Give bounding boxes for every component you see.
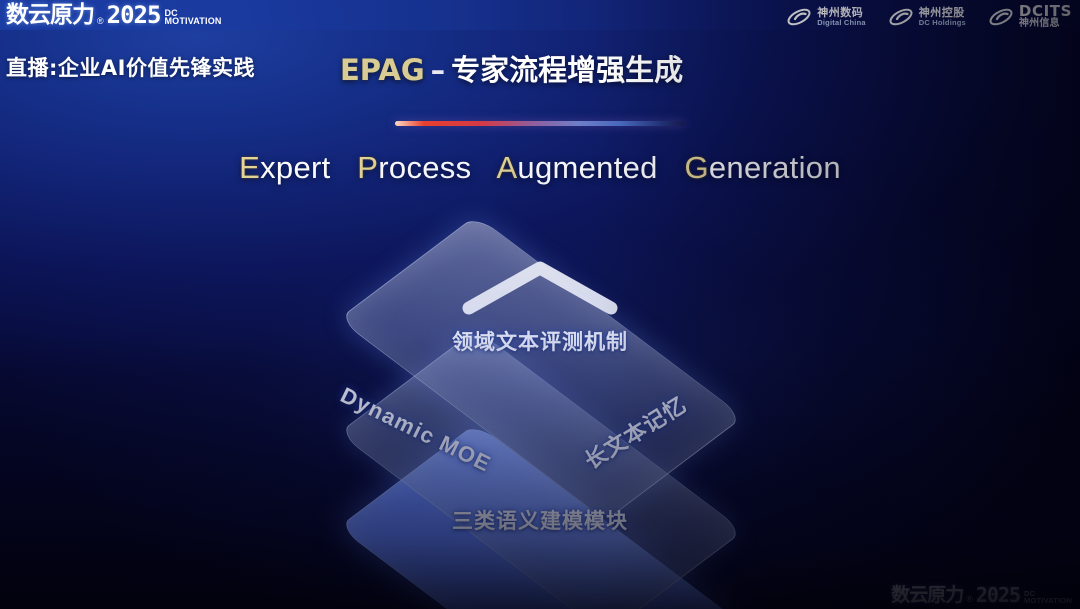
expansion-initial: A [496,150,517,185]
swoosh-icon [888,6,914,28]
partner-name-cn: 神州数码 [817,7,865,18]
expansion-word-process: Process [357,150,471,185]
expansion-initial: P [357,150,378,185]
brand-dc-motivation: DC MOTIVATION [164,9,221,27]
partner-name-en: Digital China [817,19,865,27]
space [339,150,348,185]
partner-name-en: 神州信息 [1019,19,1072,29]
layered-stack-diagram: 领域文本评测机制 Dynamic MOE 长文本记忆 三类语义建模模块 [266,224,814,574]
expansion-initial: E [239,150,260,185]
chevron-up-icon [459,256,621,318]
swoosh-icon [786,6,812,28]
footer-brand-name-cn: 数云原力 [891,586,963,605]
brand-name-cn: 数云原力 [6,4,94,27]
expansion-rest: xpert [260,150,330,185]
brand-registered-mark: ® [97,16,104,27]
brand-year: 2025 [107,3,161,27]
brand-dc-line2: MOTIVATION [164,17,221,26]
partner-logo-dc-holdings: 神州控股 DC Holdings [888,6,966,28]
partner-logo-dcits: DCITS 神州信息 [988,4,1072,29]
live-stream-label: 直播:企业AI价值先锋实践 [6,52,255,82]
partner-logo-digital-china: 神州数码 Digital China [786,6,865,28]
partner-name-cn: DCITS [1019,4,1072,19]
footer-brand-registered-mark: ® [966,594,973,605]
footer-brand-logo: 数云原力 ® 2025 DC MOTIVATION [891,585,1072,605]
title-expansion: Expert Process Augmented Generation [0,150,1080,186]
title-chinese: 专家流程增强生成 [451,53,683,87]
expansion-initial: G [684,150,708,185]
title-dash: – [431,53,446,87]
space [480,150,489,185]
expansion-rest: eneration [709,150,841,185]
space [667,150,676,185]
footer-brand-dc-motivation: DC MOTIVATION [1024,590,1072,605]
slide-canvas: 数云原力 ® 2025 DC MOTIVATION 直播:企业AI价值先锋实践 … [0,0,1080,609]
partner-name-cn: 神州控股 [919,7,966,18]
partner-text: 神州控股 DC Holdings [919,7,966,26]
footer-brand-dc-line2: MOTIVATION [1024,597,1072,604]
partner-logo-group: 神州数码 Digital China 神州控股 DC Holdings DC [786,4,1072,29]
title-acronym: EPAG [340,53,425,87]
partner-name-en: DC Holdings [919,19,966,27]
partner-text: DCITS 神州信息 [1019,4,1072,29]
expansion-rest: ugmented [517,150,657,185]
expansion-word-expert: Expert [239,150,330,185]
page-title: EPAG–专家流程增强生成 [340,55,683,87]
partner-text: 神州数码 Digital China [817,7,865,26]
title-divider [395,121,685,126]
swoosh-icon [988,6,1014,28]
brand-logo: 数云原力 ® 2025 DC MOTIVATION [6,3,222,27]
expansion-word-generation: Generation [684,150,840,185]
expansion-word-augmented: Augmented [496,150,657,185]
expansion-rest: rocess [378,150,471,185]
footer-brand-year: 2025 [976,585,1020,605]
